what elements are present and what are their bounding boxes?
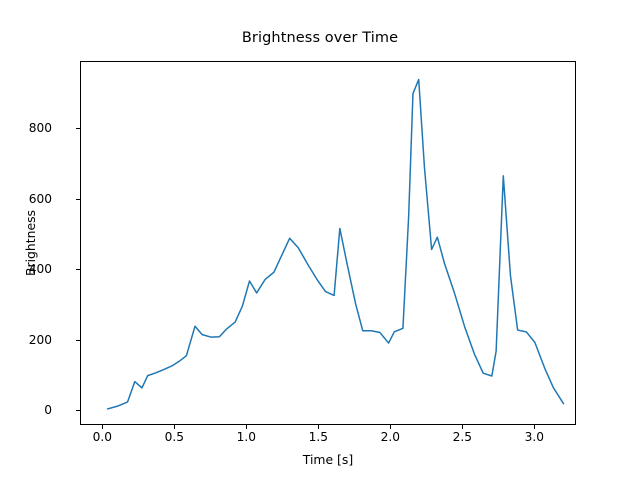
brightness-line-chart bbox=[81, 62, 575, 424]
xtick-label-3.0: 3.0 bbox=[525, 430, 544, 444]
xtick-label-2.0: 2.0 bbox=[381, 430, 400, 444]
ytick-label-0: 0 bbox=[44, 403, 52, 417]
plot-area bbox=[80, 61, 576, 425]
xtick-mark-1.0 bbox=[246, 425, 247, 429]
brightness-data-line bbox=[108, 80, 564, 409]
xtick-mark-2.0 bbox=[390, 425, 391, 429]
xtick-label-1.5: 1.5 bbox=[309, 430, 328, 444]
chart-title: Brightness over Time bbox=[0, 30, 640, 46]
y-axis-label: Brightness bbox=[22, 61, 40, 425]
xtick-mark-0.5 bbox=[174, 425, 175, 429]
xtick-label-2.5: 2.5 bbox=[453, 430, 472, 444]
xtick-mark-1.5 bbox=[318, 425, 319, 429]
xtick-mark-3.0 bbox=[534, 425, 535, 429]
xtick-label-1.0: 1.0 bbox=[237, 430, 256, 444]
figure-canvas: Brightness over Time 0 200 400 600 800 0… bbox=[0, 0, 640, 480]
xtick-label-0.0: 0.0 bbox=[93, 430, 112, 444]
xtick-mark-2.5 bbox=[462, 425, 463, 429]
xtick-label-0.5: 0.5 bbox=[165, 430, 184, 444]
x-axis-label: Time [s] bbox=[80, 452, 576, 467]
xtick-mark-0.0 bbox=[102, 425, 103, 429]
